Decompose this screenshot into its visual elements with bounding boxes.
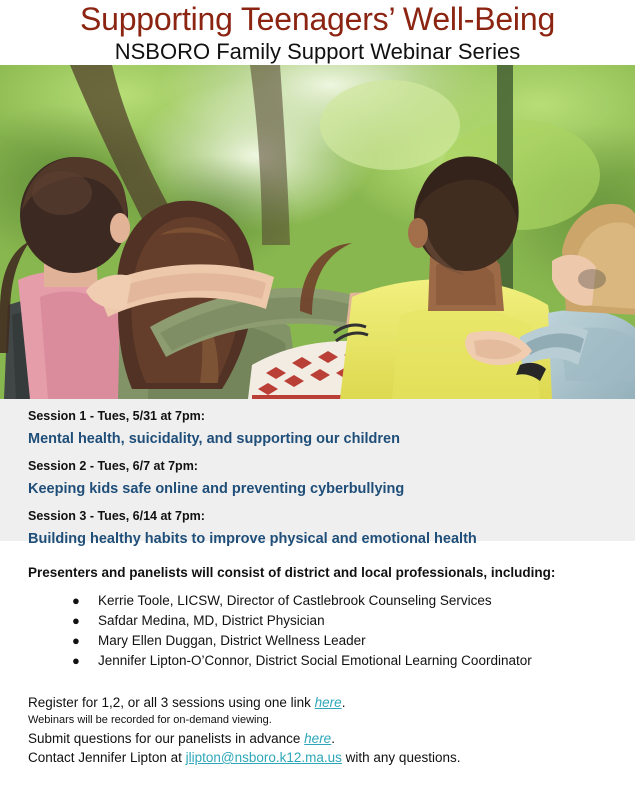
sessions-panel: Session 1 - Tues, 5/31 at 7pm: Mental he… bbox=[0, 399, 635, 541]
contact-prefix: Contact Jennifer Lipton at bbox=[28, 750, 186, 765]
presenter-list: ● Kerrie Toole, LICSW, Director of Castl… bbox=[0, 591, 635, 671]
bullet-icon: ● bbox=[72, 591, 80, 611]
session-block-2: Session 2 - Tues, 6/7 at 7pm: Keeping ki… bbox=[0, 459, 635, 509]
bullet-icon: ● bbox=[72, 651, 80, 671]
questions-link[interactable]: here bbox=[304, 731, 331, 746]
register-line: Register for 1,2, or all 3 sessions usin… bbox=[28, 693, 635, 712]
recorded-note: Webinars will be recorded for on-demand … bbox=[28, 712, 635, 729]
list-item: ● Jennifer Lipton-O’Connor, District Soc… bbox=[0, 651, 635, 671]
session-when-3: Session 3 - Tues, 6/14 at 7pm: bbox=[0, 509, 635, 524]
flyer-header: Supporting Teenagers’ Well-Being NSBORO … bbox=[0, 0, 635, 65]
webinar-flyer: Supporting Teenagers’ Well-Being NSBORO … bbox=[0, 0, 635, 800]
bullet-icon: ● bbox=[72, 611, 80, 631]
contact-line: Contact Jennifer Lipton at jlipton@nsbor… bbox=[28, 748, 635, 767]
contact-email-link[interactable]: jlipton@nsboro.k12.ma.us bbox=[186, 750, 342, 765]
list-item: ● Safdar Medina, MD, District Physician bbox=[0, 611, 635, 631]
session-topic-1: Mental health, suicidality, and supporti… bbox=[0, 424, 635, 459]
session-when-2: Session 2 - Tues, 6/7 at 7pm: bbox=[0, 459, 635, 474]
footer-section: Register for 1,2, or all 3 sessions usin… bbox=[0, 671, 635, 767]
session-block-1: Session 1 - Tues, 5/31 at 7pm: Mental he… bbox=[0, 409, 635, 459]
questions-prefix: Submit questions for our panelists in ad… bbox=[28, 731, 304, 746]
session-when-1: Session 1 - Tues, 5/31 at 7pm: bbox=[0, 409, 635, 424]
register-link[interactable]: here bbox=[315, 695, 342, 710]
questions-suffix: . bbox=[331, 731, 335, 746]
bullet-icon: ● bbox=[72, 631, 80, 651]
presenter-name: Safdar Medina, MD, District Physician bbox=[98, 613, 325, 628]
presenter-name: Kerrie Toole, LICSW, Director of Castleb… bbox=[98, 593, 492, 608]
hero-photo bbox=[0, 65, 635, 399]
page-title: Supporting Teenagers’ Well-Being bbox=[0, 1, 635, 37]
page-subtitle: NSBORO Family Support Webinar Series bbox=[0, 39, 635, 65]
list-item: ● Mary Ellen Duggan, District Wellness L… bbox=[0, 631, 635, 651]
register-suffix: . bbox=[342, 695, 346, 710]
presenters-section: Presenters and panelists will consist of… bbox=[0, 541, 635, 671]
session-topic-2: Keeping kids safe online and preventing … bbox=[0, 474, 635, 509]
list-item: ● Kerrie Toole, LICSW, Director of Castl… bbox=[0, 591, 635, 611]
questions-line: Submit questions for our panelists in ad… bbox=[28, 729, 635, 748]
hero-photo-illustration bbox=[0, 65, 635, 399]
presenter-name: Mary Ellen Duggan, District Wellness Lea… bbox=[98, 633, 366, 648]
presenter-name: Jennifer Lipton-O’Connor, District Socia… bbox=[98, 653, 532, 668]
register-prefix: Register for 1,2, or all 3 sessions usin… bbox=[28, 695, 315, 710]
presenters-lead: Presenters and panelists will consist of… bbox=[0, 565, 635, 581]
contact-suffix: with any questions. bbox=[342, 750, 461, 765]
